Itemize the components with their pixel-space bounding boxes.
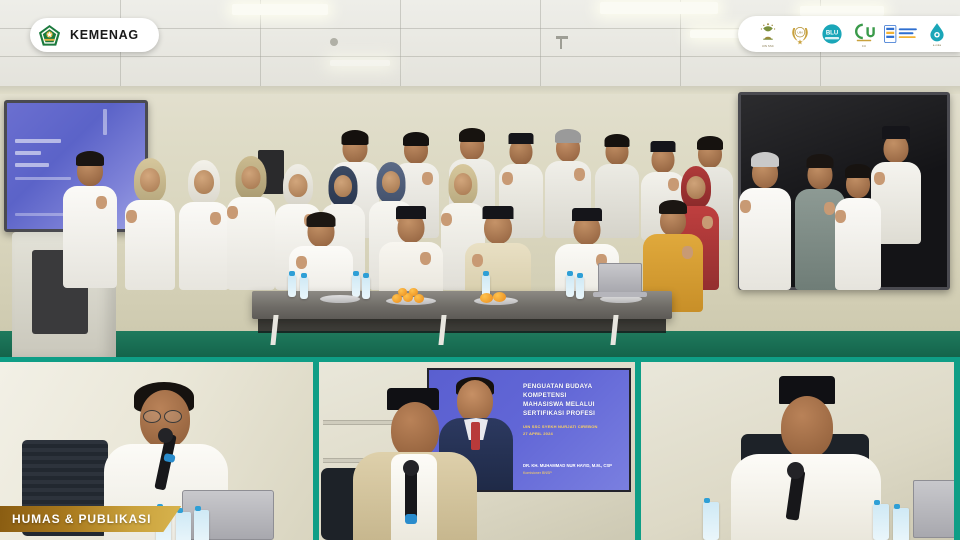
water-bottle — [194, 510, 209, 540]
water-bottle — [703, 502, 719, 540]
laptop — [598, 263, 642, 293]
svg-text:UIN: UIN — [797, 31, 802, 35]
fruit-item — [409, 288, 418, 296]
humas-publikasi-label: HUMAS & PUBLIKASI — [12, 512, 151, 526]
person-figure — [738, 150, 792, 290]
main-group-photo — [0, 0, 960, 357]
person-figure — [124, 158, 176, 290]
microphone-head — [403, 460, 419, 476]
ceiling-light — [330, 60, 390, 66]
water-drop-logo: e-mka — [926, 20, 948, 48]
person-figure — [178, 160, 230, 290]
slide-title-line-2: MAHASISWA MELALUI — [523, 400, 629, 409]
eyeglasses — [164, 410, 182, 423]
water-bottle — [176, 512, 191, 540]
slide-speaker-role: Komisioner BNSP — [523, 470, 631, 476]
water-bottle — [566, 275, 574, 297]
uin-ssc-emblem-logo: UIN SSC — [756, 20, 780, 48]
kemenag-label: KEMENAG — [70, 28, 139, 42]
ceiling-light — [232, 4, 328, 15]
award-laurel-badge-logo: UIN — [788, 20, 812, 48]
uin-ssc-caption: UIN SSC — [762, 45, 774, 48]
kampus-merdeka-logo — [884, 20, 918, 48]
blu-circle-logo: BLU — [820, 20, 844, 48]
person-figure — [62, 148, 118, 288]
water-bottle — [873, 504, 889, 540]
laptop — [913, 480, 954, 538]
ceiling-light — [600, 2, 718, 14]
slide-subtitle-line-2: 27 APRIL 2024 — [523, 431, 629, 437]
cu-green-logo: CU — [852, 20, 876, 48]
cu-caption: CU — [862, 45, 866, 48]
water-bottle — [352, 275, 360, 297]
collage-stage: PENGUATAN BUDAYA KOMPETENSI MAHASISWA ME… — [0, 0, 960, 540]
slide-title-line-1: PENGUATAN BUDAYA KOMPETENSI — [523, 382, 629, 400]
microphone-grip — [405, 514, 417, 524]
svg-text:BLU: BLU — [826, 31, 838, 37]
water-bottle — [576, 277, 584, 299]
participant-figure — [731, 376, 881, 540]
microphone-head — [787, 462, 804, 479]
fruit-item — [493, 292, 506, 302]
water-drop-caption: e-mka — [933, 44, 941, 47]
water-bottle — [362, 277, 370, 299]
slide-speaker-block: DR. KH. MUHAMMAD NUR HAYID, M.M., CSP Ko… — [523, 463, 631, 476]
water-bottle — [893, 508, 909, 540]
panel-participant-right — [641, 362, 954, 540]
fruit-item — [480, 293, 493, 303]
person-figure — [834, 162, 882, 290]
laptop-base — [593, 292, 647, 297]
kemenag-pentagon-logo — [38, 24, 61, 47]
ceiling-light — [800, 6, 884, 16]
fruit-item — [398, 288, 407, 296]
panel-presenter-mid: PENGUATAN BUDAYA KOMPETENSI MAHASISWA ME… — [319, 362, 635, 540]
water-bottle — [300, 277, 308, 299]
slide-subtitle-line-1: UIN SSC SYEKH NURJATI CIREBON — [523, 424, 629, 430]
eyeglasses — [143, 410, 161, 423]
kemenag-badge[interactable]: KEMENAG — [30, 18, 159, 52]
slide-speaker-name: DR. KH. MUHAMMAD NUR HAYID, M.M., CSP — [523, 463, 631, 469]
slide-title-line-3: SERTIFIKASI PROFESI — [523, 409, 629, 418]
slide-title-block: PENGUATAN BUDAYA KOMPETENSI MAHASISWA ME… — [523, 382, 629, 437]
floor-strip — [0, 331, 960, 357]
person-figure — [226, 156, 276, 290]
snack-plate — [320, 295, 360, 303]
microphone-head — [158, 428, 173, 443]
humas-publikasi-banner: HUMAS & PUBLIKASI — [0, 506, 181, 532]
partner-logo-bar: UIN SSC UIN BLU CU — [738, 16, 960, 52]
water-bottle — [288, 275, 296, 297]
